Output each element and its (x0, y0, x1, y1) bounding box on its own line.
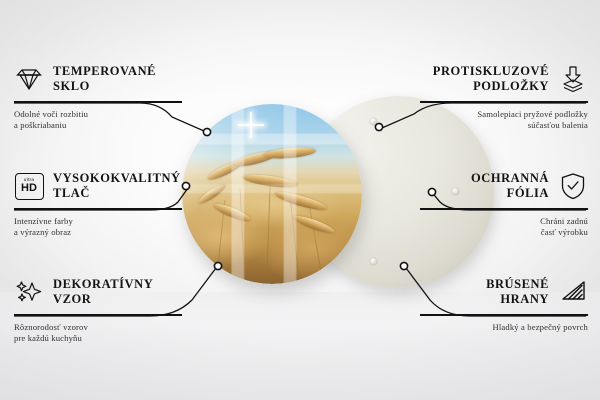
arrow-onto-pad-icon (558, 64, 588, 94)
glass-gloss-highlight (182, 104, 362, 284)
feature-title: DEKORATÍVNY VZOR (53, 277, 153, 307)
feature-title: TEMPEROVANÉ SKLO (53, 64, 156, 94)
feature-high-quality-print: ultra HD VYSOKOKVALITNÝ TLAČ Intenzívne … (14, 169, 182, 238)
ultra-hd-badge-icon: ultra HD (14, 171, 44, 201)
feature-header: PROTISKLUZOVÉ PODLOŽKY (420, 62, 588, 96)
diamond-icon (14, 64, 44, 94)
feature-header: TEMPEROVANÉ SKLO (14, 62, 182, 96)
feature-description: Odolné voči rozbitiu a poškriabaniu (14, 109, 182, 132)
feature-description: Rôznorodosť vzorov pre každú kuchyňu (14, 322, 182, 345)
feature-header: BRÚSENÉ HRANY (420, 275, 588, 309)
hatched-triangle-icon (558, 277, 588, 307)
feature-description: Samolepiaci pryžové podložky súčasťou ba… (420, 109, 588, 132)
divider (420, 101, 588, 103)
feature-title: OCHRANNÁ FÓLIA (471, 171, 549, 201)
divider (14, 101, 182, 103)
feature-tempered-glass: TEMPEROVANÉ SKLO Odolné voči rozbitiu a … (14, 62, 182, 131)
feature-header: OCHRANNÁ FÓLIA (420, 169, 588, 203)
feature-title: PROTISKLUZOVÉ PODLOŽKY (433, 64, 549, 94)
product-infographic: TEMPEROVANÉ SKLO Odolné voči rozbitiu a … (0, 0, 600, 400)
anti-slip-pad-top (370, 118, 377, 125)
sparkle-icon (14, 277, 44, 307)
hd-label: HD (21, 183, 37, 194)
feature-polished-edges: BRÚSENÉ HRANY Hladký a bezpečný povrch (420, 275, 588, 333)
divider (420, 208, 588, 210)
feature-title: BRÚSENÉ HRANY (486, 277, 549, 307)
feature-description: Chráni zadnú časť výrobku (420, 216, 588, 239)
feature-decorative-pattern: DEKORATÍVNY VZOR Rôznorodosť vzorov pre … (14, 275, 182, 344)
divider (14, 314, 182, 316)
feature-protective-film: OCHRANNÁ FÓLIA Chráni zadnú časť výrobku (420, 169, 588, 238)
feature-description: Intenzívne farby a výrazný obraz (14, 216, 182, 239)
feature-title: VYSOKOKVALITNÝ TLAČ (53, 171, 181, 201)
feature-header: DEKORATÍVNY VZOR (14, 275, 182, 309)
feature-anti-slip-pads: PROTISKLUZOVÉ PODLOŽKY Samolepiaci pryžo… (420, 62, 588, 131)
feature-header: ultra HD VYSOKOKVALITNÝ TLAČ (14, 169, 182, 203)
feature-description: Hladký a bezpečný povrch (420, 322, 588, 333)
shield-check-icon (558, 171, 588, 201)
anti-slip-pad-bottom (370, 258, 377, 265)
divider (14, 208, 182, 210)
printed-glass-board (182, 104, 362, 284)
divider (420, 314, 588, 316)
